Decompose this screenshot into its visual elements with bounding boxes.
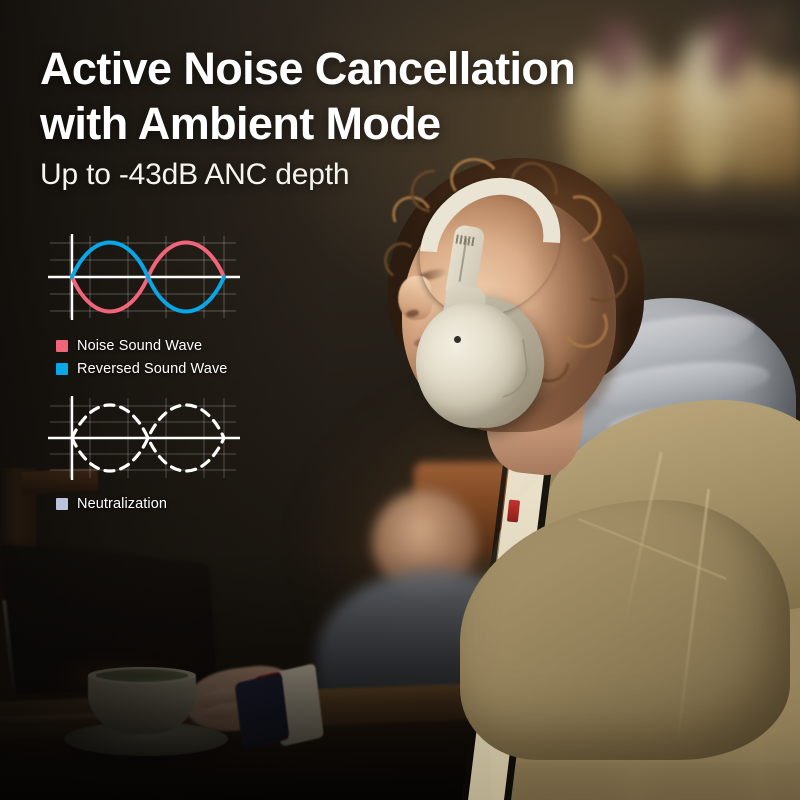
legend-item-neutralization: Neutralization xyxy=(56,496,290,512)
legend-label-noise: Noise Sound Wave xyxy=(77,338,202,354)
subject-man-with-headphones xyxy=(340,150,800,800)
jacket-red-tab xyxy=(507,499,520,522)
neutralization-diagram: Neutralization xyxy=(40,392,290,512)
headphone-microphone-port-icon xyxy=(454,336,461,343)
legend-label-neutralization: Neutralization xyxy=(77,496,167,512)
product-banner: Noise Sound Wave Reversed Sound Wave xyxy=(0,0,800,800)
chart-axes xyxy=(48,396,240,480)
page-subtitle: Up to -43dB ANC depth xyxy=(40,158,349,192)
page-title: Active Noise Cancellation with Ambient M… xyxy=(40,42,660,152)
legend-swatch-neutralization xyxy=(56,498,68,510)
legend-item-noise-sound-wave: Noise Sound Wave xyxy=(56,338,290,354)
chart-axes xyxy=(48,234,240,320)
legend-swatch-reversed xyxy=(56,363,68,375)
headline-line-2: with Ambient Mode xyxy=(40,97,660,152)
bokeh-light xyxy=(708,16,748,86)
phase-cancellation-diagram: Noise Sound Wave Reversed Sound Wave xyxy=(40,228,290,377)
legend-label-reversed: Reversed Sound Wave xyxy=(77,361,227,377)
headline-line-1: Active Noise Cancellation xyxy=(40,42,660,97)
legend-item-reversed-sound-wave: Reversed Sound Wave xyxy=(56,361,290,377)
bokeh-light xyxy=(756,10,786,70)
phase-cancellation-chart xyxy=(40,228,290,326)
neutralization-chart xyxy=(40,392,290,484)
legend-swatch-noise xyxy=(56,340,68,352)
